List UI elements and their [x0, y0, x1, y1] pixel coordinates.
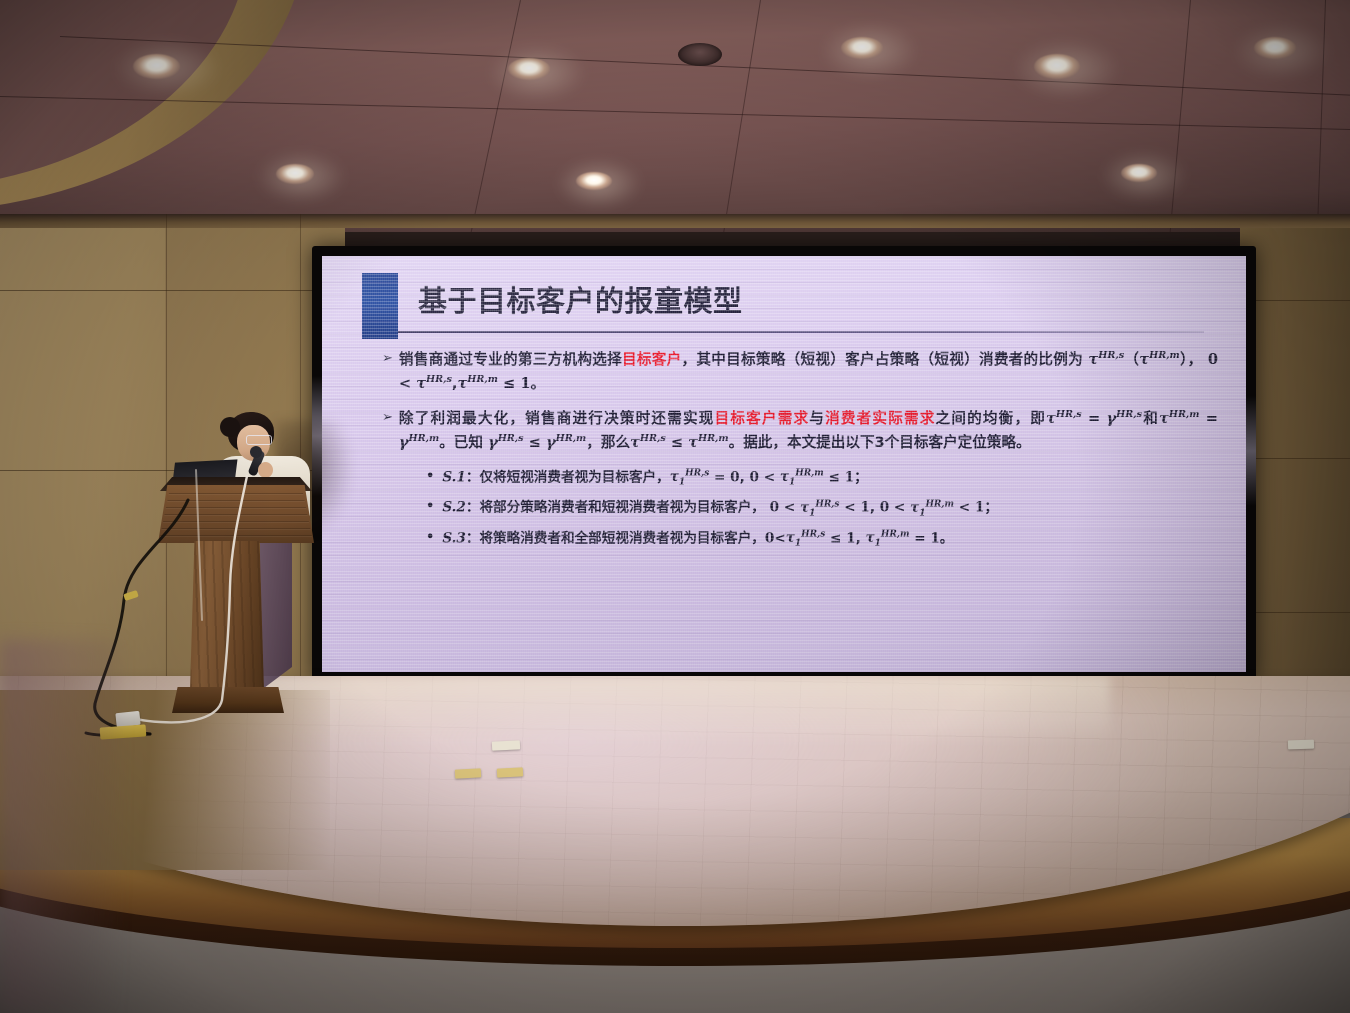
- floor-marker-tape: [492, 740, 520, 750]
- slide-paragraph: ➢ 除了利润最大化，销售商进行决策时还需实现目标客户需求与消费者实际需求之间的均…: [382, 407, 1218, 454]
- ceiling-seam-vertical: [722, 0, 761, 232]
- ceiling-downlight: [133, 54, 180, 79]
- ceiling-downlight: [508, 58, 550, 80]
- ceiling: [0, 0, 1350, 232]
- highlight-text: 消费者实际需求: [825, 410, 935, 427]
- podium-panel-grooves: [158, 493, 314, 539]
- presentation-slide: 基于目标客户的报童模型 ➢ 销售商通过专业的第三方机构选择目标客户，其中目标策略…: [322, 256, 1246, 672]
- strategy-sep: ：: [466, 500, 480, 516]
- ceiling-seam-vertical: [1169, 0, 1191, 232]
- bullet-arrow-icon: ➢: [382, 348, 393, 395]
- wall-seam: [1240, 458, 1350, 459]
- led-display-screen[interactable]: 基于目标客户的报童模型 ➢ 销售商通过专业的第三方机构选择目标客户，其中目标策略…: [312, 246, 1256, 682]
- slide-paragraph: ➢ 销售商通过专业的第三方机构选择目标客户，其中目标策略（短视）客户占策略（短视…: [382, 348, 1218, 395]
- bullet-arrow-icon: ➢: [382, 407, 393, 454]
- strategy-text: S.3：将策略消费者和全部短视消费者视为目标客户，0<τ1HR,s ≤ 1, τ…: [442, 528, 953, 552]
- strategy-label: S.3: [442, 530, 466, 546]
- floor-marker-tape: [455, 768, 481, 778]
- highlight-text: 目标客户需求: [715, 410, 810, 427]
- slide-body: ➢ 销售商通过专业的第三方机构选择目标客户，其中目标策略（短视）客户占策略（短视…: [382, 348, 1218, 558]
- wall-top-trim: [0, 214, 1350, 228]
- strategy-bullet: • S.1：仅将短视消费者视为目标客户，τ1HR,s = 0, 0 < τ1HR…: [426, 467, 1218, 491]
- ceiling-downlight: [841, 37, 883, 59]
- strategy-bullet: • S.2：将部分策略消费者和短视消费者视为目标客户， 0 < τ1HR,s <…: [426, 497, 1218, 521]
- strategy-sep: ：: [466, 530, 480, 546]
- ceiling-seam-vertical: [470, 0, 521, 232]
- right-wall-panel: [1240, 214, 1350, 734]
- bullet-dot-icon: •: [426, 497, 434, 521]
- speaker-hair-bun: [220, 417, 240, 437]
- bullet-dot-icon: •: [426, 467, 434, 491]
- paragraph-text: 销售商通过专业的第三方机构选择目标客户，其中目标策略（短视）客户占策略（短视）消…: [399, 348, 1218, 395]
- ceiling-downlight: [276, 164, 314, 184]
- bezel-highlight-right: [1246, 396, 1256, 506]
- strategy-label: S.1: [442, 469, 466, 485]
- strategy-text: S.1：仅将短视消费者视为目标客户，τ1HR,s = 0, 0 < τ1HR,m…: [442, 467, 867, 491]
- wall-seam: [1240, 612, 1350, 613]
- podium-base: [172, 687, 284, 713]
- lecture-hall-photo: 基于目标客户的报童模型 ➢ 销售商通过专业的第三方机构选择目标客户，其中目标策略…: [0, 0, 1350, 1013]
- floor-marker-tape: [497, 767, 523, 777]
- floor-marker-tape: [1288, 740, 1314, 750]
- screen-surface: 基于目标客户的报童模型 ➢ 销售商通过专业的第三方机构选择目标客户，其中目标策略…: [322, 256, 1246, 672]
- glasses-icon: [246, 435, 272, 445]
- ceiling-downlight: [1254, 37, 1296, 59]
- foreground-blur: [0, 640, 120, 1013]
- highlight-text: 目标客户: [622, 351, 682, 368]
- podium: [160, 455, 320, 740]
- slide-title: 基于目标客户的报童模型: [418, 278, 743, 320]
- paragraph-text: 除了利润最大化，销售商进行决策时还需实现目标客户需求与消费者实际需求之间的均衡，…: [399, 407, 1218, 454]
- wall-seam: [1240, 300, 1350, 301]
- title-underline: [398, 331, 1204, 333]
- ceiling-downlight: [1034, 54, 1080, 79]
- ceiling-vent-icon: [678, 43, 722, 66]
- ceiling-downlight: [1121, 164, 1157, 182]
- stage-reflection: [210, 676, 1110, 746]
- strategy-text: S.2：将部分策略消费者和短视消费者视为目标客户， 0 < τ1HR,s < 1…: [442, 497, 998, 521]
- strategy-bullet: • S.3：将策略消费者和全部短视消费者视为目标客户，0<τ1HR,s ≤ 1,…: [426, 528, 1218, 552]
- title-accent-bar: [362, 273, 398, 339]
- strategy-sep: ：: [466, 469, 480, 485]
- ceiling-downlight: [576, 172, 612, 190]
- wall-seam: [0, 290, 330, 291]
- strategy-label: S.2: [442, 500, 466, 516]
- bullet-dot-icon: •: [426, 528, 434, 552]
- podium-wood-grain: [190, 541, 264, 691]
